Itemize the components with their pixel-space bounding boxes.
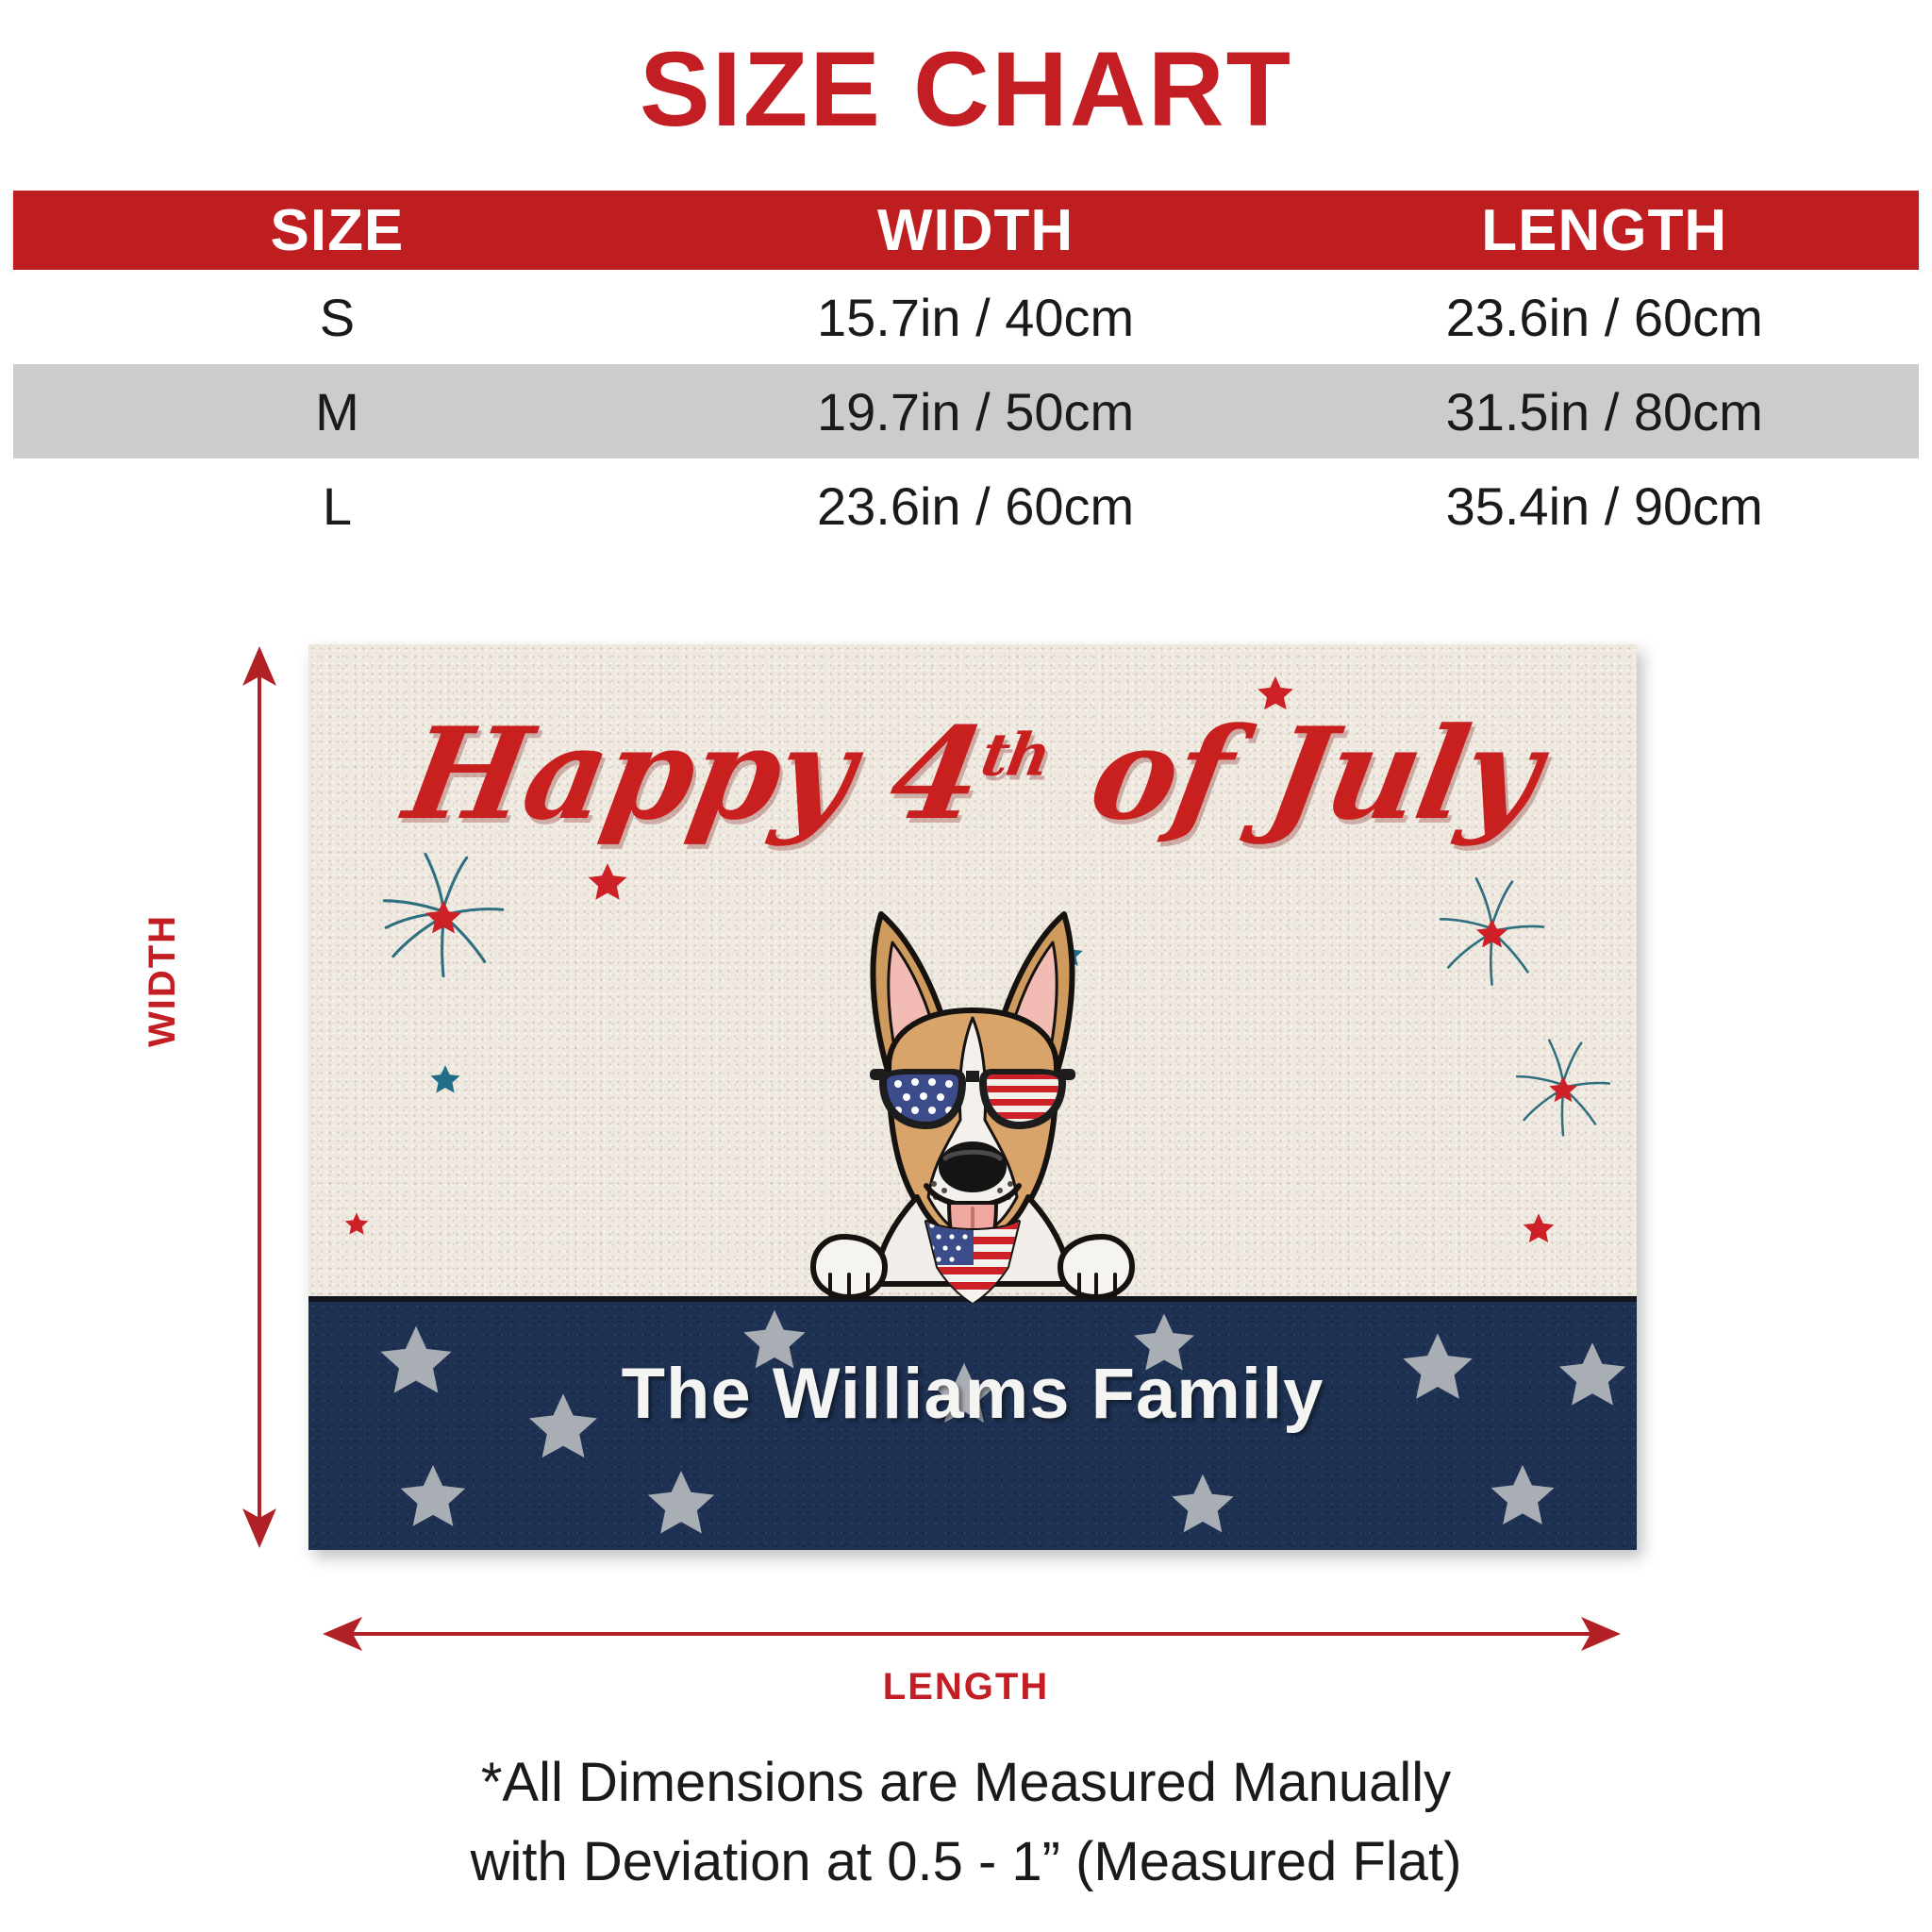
firework-icon xyxy=(1414,854,1570,1009)
page-title: SIZE CHART xyxy=(0,34,1932,145)
star-icon xyxy=(1165,1468,1241,1543)
headline-part1: Happy 4 xyxy=(395,699,991,848)
headline-ordinal-suffix: th xyxy=(976,720,1055,789)
cell-width: 15.7in / 40cm xyxy=(661,287,1291,348)
column-header-width: WIDTH xyxy=(661,197,1291,264)
cell-size: M xyxy=(13,381,661,442)
width-dimension-arrow xyxy=(241,644,278,1550)
footnote: *All Dimensions are Measured Manually wi… xyxy=(0,1743,1932,1902)
cell-length: 23.6in / 60cm xyxy=(1290,287,1919,348)
star-icon xyxy=(1484,1458,1561,1536)
firework-icon xyxy=(354,825,533,1005)
table-row: L 23.6in / 60cm 35.4in / 90cm xyxy=(13,458,1919,553)
star-icon xyxy=(1520,1210,1557,1248)
headline-text: Happy 4thof July xyxy=(308,699,1637,848)
table-header-row: SIZE WIDTH LENGTH xyxy=(13,191,1919,270)
star-icon xyxy=(393,1458,473,1538)
length-label: LENGTH xyxy=(0,1666,1932,1708)
dog-illustration xyxy=(751,897,1194,1303)
cell-size: S xyxy=(13,287,661,348)
star-icon xyxy=(342,1210,371,1239)
footnote-line-2: with Deviation at 0.5 - 1” (Measured Fla… xyxy=(0,1823,1932,1902)
doormat-product-image: Happy 4thof July xyxy=(308,644,1637,1550)
product-preview-area: Happy 4thof July xyxy=(0,623,1932,1641)
star-icon xyxy=(584,859,631,907)
width-label: WIDTH xyxy=(142,914,184,1047)
footnote-line-1: *All Dimensions are Measured Manually xyxy=(0,1743,1932,1823)
star-icon xyxy=(641,1464,722,1545)
size-chart-page: SIZE CHART SIZE WIDTH LENGTH S 15.7in / … xyxy=(0,0,1932,1932)
cell-width: 19.7in / 50cm xyxy=(661,381,1291,442)
column-header-size: SIZE xyxy=(13,197,661,264)
headline-part2: of July xyxy=(1081,699,1550,848)
column-header-length: LENGTH xyxy=(1290,197,1919,264)
length-dimension-arrow xyxy=(321,1615,1623,1653)
table-row: S 15.7in / 40cm 23.6in / 60cm xyxy=(13,270,1919,364)
cell-length: 35.4in / 90cm xyxy=(1290,475,1919,537)
cell-width: 23.6in / 60cm xyxy=(661,475,1291,537)
family-name-text: The Williams Family xyxy=(308,1353,1637,1435)
size-table: SIZE WIDTH LENGTH S 15.7in / 40cm 23.6in… xyxy=(13,191,1919,553)
table-row: M 19.7in / 50cm 31.5in / 80cm xyxy=(13,364,1919,458)
mat-top-panel: Happy 4thof July xyxy=(308,644,1637,1296)
mat-bottom-panel: The Williams Family xyxy=(308,1296,1637,1550)
cell-size: L xyxy=(13,475,661,537)
cell-length: 31.5in / 80cm xyxy=(1290,381,1919,442)
